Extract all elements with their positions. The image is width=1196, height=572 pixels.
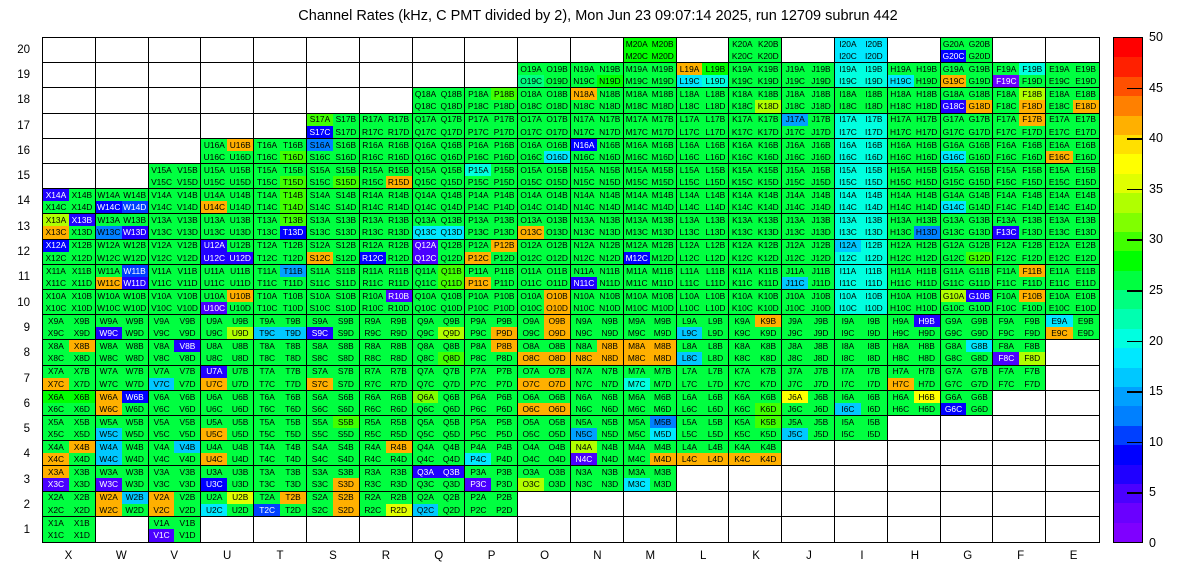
channel-P7C[interactable]: P7C [465, 378, 491, 390]
heatmap-cell-W14[interactable]: W14AW14BW14CW14D [96, 189, 149, 214]
channel-G15D[interactable]: G15D [966, 176, 992, 188]
channel-S12A[interactable]: S12A [307, 240, 333, 252]
heatmap-cell-M14[interactable]: M14AM14BM14CM14D [624, 189, 677, 214]
channel-R11D[interactable]: R11D [386, 277, 412, 289]
channel-I13B[interactable]: I13B [861, 214, 887, 226]
channel-S15A[interactable]: S15A [307, 164, 333, 176]
heatmap-cell-W7[interactable]: W7AW7BW7CW7D [96, 366, 149, 391]
channel-I11D[interactable]: I11D [861, 277, 887, 289]
channel-T7A[interactable]: T7A [254, 366, 280, 378]
channel-I19C[interactable]: I19C [835, 75, 861, 87]
heatmap-cell-G4[interactable] [941, 441, 994, 466]
channel-F14B[interactable]: F14B [1019, 189, 1045, 201]
channel-G15C[interactable]: G15C [941, 176, 967, 188]
heatmap-cell-R17[interactable]: R17AR17BR17CR17D [360, 114, 413, 139]
heatmap-cell-R1[interactable] [360, 517, 413, 542]
channel-J15D[interactable]: J15D [808, 176, 834, 188]
channel-W9B[interactable]: W9B [122, 315, 148, 327]
heatmap-cell-J14[interactable]: J14AJ14BJ14CJ14D [782, 189, 835, 214]
channel-K15B[interactable]: K15B [755, 164, 781, 176]
heatmap-cell-H15[interactable]: H15AH15BH15CH15D [888, 164, 941, 189]
channel-H7D[interactable]: H7D [914, 378, 940, 390]
channel-T11C[interactable]: T11C [254, 277, 280, 289]
heatmap-cell-F11[interactable]: F11AF11BF11CF11D [993, 265, 1046, 290]
heatmap-cell-P14[interactable]: P14AP14BP14CP14D [465, 189, 518, 214]
channel-E14A[interactable]: E14A [1046, 189, 1072, 201]
heatmap-cell-K12[interactable]: K12AK12BK12CK12D [729, 240, 782, 265]
channel-O17C[interactable]: O17C [518, 126, 544, 138]
heatmap-cell-H17[interactable]: H17AH17BH17CH17D [888, 114, 941, 139]
heatmap-cell-M10[interactable]: M10AM10BM10CM10D [624, 290, 677, 315]
channel-H14C[interactable]: H14C [888, 201, 914, 213]
channel-F11A[interactable]: F11A [993, 265, 1019, 277]
channel-O5B[interactable]: O5B [544, 416, 570, 428]
channel-W13B[interactable]: W13B [122, 214, 148, 226]
channel-N6D[interactable]: N6D [597, 403, 623, 415]
channel-K15D[interactable]: K15D [755, 176, 781, 188]
heatmap-cell-E19[interactable]: E19AE19BE19CE19D [1046, 63, 1099, 88]
channel-S17D[interactable]: S17D [333, 126, 359, 138]
channel-P6A[interactable]: P6A [465, 391, 491, 403]
channel-Q14A[interactable]: Q14A [413, 189, 439, 201]
channel-I10A[interactable]: I10A [835, 290, 861, 302]
channel-M19D[interactable]: M19D [650, 75, 676, 87]
heatmap-cell-P18[interactable]: P18AP18BP18CP18D [465, 88, 518, 113]
channel-Q16C[interactable]: Q16C [413, 151, 439, 163]
heatmap-cell-K6[interactable]: K6AK6BK6CK6D [729, 391, 782, 416]
channel-M9D[interactable]: M9D [650, 327, 676, 339]
heatmap-cell-Q19[interactable] [413, 63, 466, 88]
channel-X7A[interactable]: X7A [43, 366, 69, 378]
channel-Q13A[interactable]: Q13A [413, 214, 439, 226]
channel-O7B[interactable]: O7B [544, 366, 570, 378]
heatmap-cell-R6[interactable]: R6AR6BR6CR6D [360, 391, 413, 416]
channel-Q12B[interactable]: Q12B [438, 240, 464, 252]
channel-X14C[interactable]: X14C [43, 201, 69, 213]
heatmap-cell-K14[interactable]: K14AK14BK14CK14D [729, 189, 782, 214]
channel-V14A[interactable]: V14A [149, 189, 175, 201]
channel-U8C[interactable]: U8C [201, 352, 227, 364]
channel-O8C[interactable]: O8C [518, 352, 544, 364]
heatmap-cell-L2[interactable] [677, 492, 730, 517]
channel-E16D[interactable]: E16D [1073, 151, 1099, 163]
channel-W2C[interactable]: W2C [96, 504, 122, 516]
heatmap-cell-T14[interactable]: T14AT14BT14CT14D [254, 189, 307, 214]
channel-U15A[interactable]: U15A [201, 164, 227, 176]
channel-F18D[interactable]: F18D [1019, 100, 1045, 112]
channel-P7D[interactable]: P7D [491, 378, 517, 390]
heatmap-cell-E2[interactable] [1046, 492, 1099, 517]
channel-J18C[interactable]: J18C [782, 100, 808, 112]
channel-M18C[interactable]: M18C [624, 100, 650, 112]
channel-W4A[interactable]: W4A [96, 441, 122, 453]
channel-I14A[interactable]: I14A [835, 189, 861, 201]
channel-M15A[interactable]: M15A [624, 164, 650, 176]
channel-M13B[interactable]: M13B [650, 214, 676, 226]
heatmap-cell-M7[interactable]: M7AM7BM7CM7D [624, 366, 677, 391]
channel-N13A[interactable]: N13A [571, 214, 597, 226]
channel-Q7A[interactable]: Q7A [413, 366, 439, 378]
channel-H14A[interactable]: H14A [888, 189, 914, 201]
channel-M19B[interactable]: M19B [650, 63, 676, 75]
channel-R17B[interactable]: R17B [386, 114, 412, 126]
heatmap-cell-L16[interactable]: L16AL16BL16CL16D [677, 139, 730, 164]
channel-Q16B[interactable]: Q16B [438, 139, 464, 151]
channel-N13B[interactable]: N13B [597, 214, 623, 226]
heatmap-cell-U11[interactable]: U11AU11BU11CU11D [201, 265, 254, 290]
channel-K11B[interactable]: K11B [755, 265, 781, 277]
heatmap-cell-E17[interactable]: E17AE17BE17CE17D [1046, 114, 1099, 139]
heatmap-cell-T12[interactable]: T12AT12BT12CT12D [254, 240, 307, 265]
channel-W5B[interactable]: W5B [122, 416, 148, 428]
channel-H7A[interactable]: H7A [888, 366, 914, 378]
channel-O12C[interactable]: O12C [518, 252, 544, 264]
heatmap-cell-G12[interactable]: G12AG12BG12CG12D [941, 240, 994, 265]
heatmap-cell-G19[interactable]: G19AG19BG19CG19D [941, 63, 994, 88]
channel-P13B[interactable]: P13B [491, 214, 517, 226]
channel-U5B[interactable]: U5B [227, 416, 253, 428]
channel-R12A[interactable]: R12A [360, 240, 386, 252]
heatmap-cell-J11[interactable]: J11AJ11BJ11CJ11D [782, 265, 835, 290]
heatmap-cell-S11[interactable]: S11AS11BS11CS11D [307, 265, 360, 290]
channel-O8D[interactable]: O8D [544, 352, 570, 364]
channel-O9D[interactable]: O9D [544, 327, 570, 339]
channel-J11B[interactable]: J11B [808, 265, 834, 277]
channel-U16D[interactable]: U16D [227, 151, 253, 163]
channel-N13C[interactable]: N13C [571, 226, 597, 238]
channel-H6B[interactable]: H6B [914, 391, 940, 403]
heatmap-cell-F14[interactable]: F14AF14BF14CF14D [993, 189, 1046, 214]
heatmap-cell-J1[interactable] [782, 517, 835, 542]
channel-T5D[interactable]: T5D [280, 428, 306, 440]
heatmap-cell-U2[interactable]: U2AU2BU2CU2D [201, 492, 254, 517]
channel-O18C[interactable]: O18C [518, 100, 544, 112]
channel-H11C[interactable]: H11C [888, 277, 914, 289]
channel-T6D[interactable]: T6D [280, 403, 306, 415]
heatmap-cell-G17[interactable]: G17AG17BG17CG17D [941, 114, 994, 139]
heatmap-cell-I4[interactable] [835, 441, 888, 466]
channel-Q10D[interactable]: Q10D [438, 302, 464, 314]
channel-N5A[interactable]: N5A [571, 416, 597, 428]
heatmap-cell-H14[interactable]: H14AH14BH14CH14D [888, 189, 941, 214]
channel-V4A[interactable]: V4A [149, 441, 175, 453]
channel-T6C[interactable]: T6C [254, 403, 280, 415]
channel-V1D[interactable]: V1D [174, 529, 200, 542]
heatmap-cell-K16[interactable]: K16AK16BK16CK16D [729, 139, 782, 164]
channel-R8D[interactable]: R8D [386, 352, 412, 364]
heatmap-cell-E1[interactable] [1046, 517, 1099, 542]
channel-G9D[interactable]: G9D [966, 327, 992, 339]
channel-K19C[interactable]: K19C [729, 75, 755, 87]
channel-Q2D[interactable]: Q2D [438, 504, 464, 516]
channel-M14B[interactable]: M14B [650, 189, 676, 201]
heatmap-cell-F12[interactable]: F12AF12BF12CF12D [993, 240, 1046, 265]
channel-N5B[interactable]: N5B [597, 416, 623, 428]
channel-M3B[interactable]: M3B [650, 466, 676, 478]
channel-R3C[interactable]: R3C [360, 478, 386, 490]
channel-E14C[interactable]: E14C [1046, 201, 1072, 213]
channel-X13C[interactable]: X13C [43, 226, 69, 238]
channel-G17C[interactable]: G17C [941, 126, 967, 138]
channel-O6D[interactable]: O6D [544, 403, 570, 415]
channel-W12A[interactable]: W12A [96, 240, 122, 252]
heatmap-cell-G16[interactable]: G16AG16BG16CG16D [941, 139, 994, 164]
heatmap-cell-V15[interactable]: V15AV15BV15CV15D [149, 164, 202, 189]
channel-S16C[interactable]: S16C [307, 151, 333, 163]
channel-N17A[interactable]: N17A [571, 114, 597, 126]
channel-K7D[interactable]: K7D [755, 378, 781, 390]
heatmap-cell-S10[interactable]: S10AS10BS10CS10D [307, 290, 360, 315]
channel-L15B[interactable]: L15B [702, 164, 728, 176]
channel-K8A[interactable]: K8A [729, 340, 755, 352]
channel-K4A[interactable]: K4A [729, 441, 755, 453]
channel-O16C[interactable]: O16C [518, 151, 544, 163]
heatmap-cell-I7[interactable]: I7AI7BI7CI7D [835, 366, 888, 391]
channel-P11D[interactable]: P11D [491, 277, 517, 289]
channel-M17D[interactable]: M17D [650, 126, 676, 138]
channel-W14B[interactable]: W14B [122, 189, 148, 201]
heatmap-cell-F16[interactable]: F16AF16BF16CF16D [993, 139, 1046, 164]
channel-O5D[interactable]: O5D [544, 428, 570, 440]
channel-J8B[interactable]: J8B [808, 340, 834, 352]
channel-J12C[interactable]: J12C [782, 252, 808, 264]
heatmap-cell-W11[interactable]: W11AW11BW11CW11D [96, 265, 149, 290]
heatmap-cell-P15[interactable]: P15AP15BP15CP15D [465, 164, 518, 189]
channel-V1A[interactable]: V1A [149, 517, 175, 530]
channel-J12A[interactable]: J12A [782, 240, 808, 252]
channel-Q7B[interactable]: Q7B [438, 366, 464, 378]
channel-U16B[interactable]: U16B [227, 139, 253, 151]
heatmap-cell-N18[interactable]: N18AN18BN18CN18D [571, 88, 624, 113]
channel-M12A[interactable]: M12A [624, 240, 650, 252]
channel-I18B[interactable]: I18B [861, 88, 887, 100]
channel-M15C[interactable]: M15C [624, 176, 650, 188]
channel-G8A[interactable]: G8A [941, 340, 967, 352]
channel-N15B[interactable]: N15B [597, 164, 623, 176]
channel-O14D[interactable]: O14D [544, 201, 570, 213]
channel-U15D[interactable]: U15D [227, 176, 253, 188]
heatmap-cell-Q2[interactable]: Q2AQ2BQ2CQ2D [413, 492, 466, 517]
channel-I10B[interactable]: I10B [861, 290, 887, 302]
channel-G13D[interactable]: G13D [966, 226, 992, 238]
channel-L10D[interactable]: L10D [702, 302, 728, 314]
channel-L8D[interactable]: L8D [702, 352, 728, 364]
heatmap-cell-N7[interactable]: N7AN7BN7CN7D [571, 366, 624, 391]
heatmap-cell-S17[interactable]: S17AS17BS17CS17D [307, 114, 360, 139]
channel-M19C[interactable]: M19C [624, 75, 650, 87]
channel-K6D[interactable]: K6D [755, 403, 781, 415]
channel-X11D[interactable]: X11D [69, 277, 95, 289]
channel-K16C[interactable]: K16C [729, 151, 755, 163]
heatmap-cell-V2[interactable]: V2AV2BV2CV2D [149, 492, 202, 517]
channel-P16A[interactable]: P16A [465, 139, 491, 151]
heatmap-cell-O15[interactable]: O15AO15BO15CO15D [518, 164, 571, 189]
channel-R11B[interactable]: R11B [386, 265, 412, 277]
heatmap-cell-P2[interactable]: P2AP2BP2CP2D [465, 492, 518, 517]
channel-E18D[interactable]: E18D [1073, 100, 1099, 112]
channel-T2C[interactable]: T2C [254, 504, 280, 516]
channel-O10C[interactable]: O10C [518, 302, 544, 314]
channel-U8D[interactable]: U8D [227, 352, 253, 364]
channel-N8B[interactable]: N8B [597, 340, 623, 352]
heatmap-cell-E7[interactable] [1046, 366, 1099, 391]
channel-O3D[interactable]: O3D [544, 478, 570, 490]
heatmap-cell-S2[interactable]: S2AS2BS2CS2D [307, 492, 360, 517]
channel-F7D[interactable]: F7D [1019, 378, 1045, 390]
heatmap-cell-H18[interactable]: H18AH18BH18CH18D [888, 88, 941, 113]
channel-J8D[interactable]: J8D [808, 352, 834, 364]
heatmap-cell-T2[interactable]: T2AT2BT2CT2D [254, 492, 307, 517]
heatmap-cell-P13[interactable]: P13AP13BP13CP13D [465, 214, 518, 239]
channel-T14C[interactable]: T14C [254, 201, 280, 213]
heatmap-cell-H9[interactable]: H9AH9BH9CH9D [888, 315, 941, 340]
heatmap-cell-W2[interactable]: W2AW2BW2CW2D [96, 492, 149, 517]
channel-Q8C[interactable]: Q8C [413, 352, 439, 364]
channel-K11A[interactable]: K11A [729, 265, 755, 277]
channel-R5C[interactable]: R5C [360, 428, 386, 440]
channel-O9C[interactable]: O9C [518, 327, 544, 339]
channel-M10B[interactable]: M10B [650, 290, 676, 302]
heatmap-cell-W20[interactable] [96, 38, 149, 63]
channel-V9B[interactable]: V9B [174, 315, 200, 327]
channel-L4D[interactable]: L4D [702, 453, 728, 465]
heatmap-cell-N9[interactable]: N9AN9BN9CN9D [571, 315, 624, 340]
heatmap-cell-S19[interactable] [307, 63, 360, 88]
channel-E19B[interactable]: E19B [1073, 63, 1099, 75]
channel-G7A[interactable]: G7A [941, 366, 967, 378]
heatmap-cell-X11[interactable]: X11AX11BX11CX11D [43, 265, 96, 290]
channel-W11A[interactable]: W11A [96, 265, 122, 277]
channel-O18D[interactable]: O18D [544, 100, 570, 112]
channel-K9B[interactable]: K9B [755, 315, 781, 327]
channel-Q10B[interactable]: Q10B [438, 290, 464, 302]
channel-F17C[interactable]: F17C [993, 126, 1019, 138]
channel-J5C[interactable]: J5C [782, 428, 808, 440]
heatmap-cell-N15[interactable]: N15AN15BN15CN15D [571, 164, 624, 189]
channel-X7B[interactable]: X7B [69, 366, 95, 378]
channel-N11C[interactable]: N11C [571, 277, 597, 289]
heatmap-cell-T13[interactable]: T13AT13BT13CT13D [254, 214, 307, 239]
heatmap-cell-X1[interactable]: X1AX1BX1CX1D [43, 517, 96, 542]
channel-I19D[interactable]: I19D [861, 75, 887, 87]
channel-P8C[interactable]: P8C [465, 352, 491, 364]
heatmap-cell-N20[interactable] [571, 38, 624, 63]
channel-V11D[interactable]: V11D [174, 277, 200, 289]
channel-T15C[interactable]: T15C [254, 176, 280, 188]
channel-G10B[interactable]: G10B [966, 290, 992, 302]
channel-J10C[interactable]: J10C [782, 302, 808, 314]
heatmap-cell-E3[interactable] [1046, 466, 1099, 491]
channel-N11A[interactable]: N11A [571, 265, 597, 277]
heatmap-cell-Q5[interactable]: Q5AQ5BQ5CQ5D [413, 416, 466, 441]
channel-Q2B[interactable]: Q2B [438, 492, 464, 504]
channel-O16B[interactable]: O16B [544, 139, 570, 151]
channel-V7A[interactable]: V7A [149, 366, 175, 378]
channel-P8B[interactable]: P8B [491, 340, 517, 352]
heatmap-cell-M15[interactable]: M15AM15BM15CM15D [624, 164, 677, 189]
heatmap-cell-F2[interactable] [993, 492, 1046, 517]
channel-Q6B[interactable]: Q6B [438, 391, 464, 403]
channel-Q8D[interactable]: Q8D [438, 352, 464, 364]
channel-I14D[interactable]: I14D [861, 201, 887, 213]
channel-G11C[interactable]: G11C [941, 277, 967, 289]
heatmap-cell-X17[interactable] [43, 114, 96, 139]
channel-M20D[interactable]: M20D [650, 50, 676, 62]
channel-Q9A[interactable]: Q9A [413, 315, 439, 327]
channel-R14C[interactable]: R14C [360, 201, 386, 213]
channel-I6D[interactable]: I6D [861, 403, 887, 415]
channel-H8B[interactable]: H8B [914, 340, 940, 352]
channel-J16B[interactable]: J16B [808, 139, 834, 151]
channel-I6C[interactable]: I6C [835, 403, 861, 415]
channel-Q15D[interactable]: Q15D [438, 176, 464, 188]
heatmap-cell-R19[interactable] [360, 63, 413, 88]
channel-T2D[interactable]: T2D [280, 504, 306, 516]
channel-H9D[interactable]: H9D [914, 327, 940, 339]
channel-U10D[interactable]: U10D [227, 302, 253, 314]
channel-Q13C[interactable]: Q13C [413, 226, 439, 238]
heatmap-cell-V17[interactable] [149, 114, 202, 139]
channel-L18B[interactable]: L18B [702, 88, 728, 100]
heatmap-cell-L5[interactable]: L5AL5BL5CL5D [677, 416, 730, 441]
channel-M20A[interactable]: M20A [624, 38, 650, 50]
channel-I9A[interactable]: I9A [835, 315, 861, 327]
channel-W5A[interactable]: W5A [96, 416, 122, 428]
channel-G10C[interactable]: G10C [941, 302, 967, 314]
channel-P17C[interactable]: P17C [465, 126, 491, 138]
channel-S6B[interactable]: S6B [333, 391, 359, 403]
channel-L13B[interactable]: L13B [702, 214, 728, 226]
heatmap-cell-S13[interactable]: S13AS13BS13CS13D [307, 214, 360, 239]
heatmap-cell-E5[interactable] [1046, 416, 1099, 441]
channel-H10C[interactable]: H10C [888, 302, 914, 314]
channel-K8B[interactable]: K8B [755, 340, 781, 352]
channel-F13D[interactable]: F13D [1019, 226, 1045, 238]
channel-E13D[interactable]: E13D [1073, 226, 1099, 238]
heatmap-cell-H5[interactable] [888, 416, 941, 441]
channel-X2B[interactable]: X2B [69, 492, 95, 504]
channel-J14A[interactable]: J14A [782, 189, 808, 201]
channel-H15B[interactable]: H15B [914, 164, 940, 176]
channel-S17A[interactable]: S17A [307, 114, 333, 126]
channel-N15A[interactable]: N15A [571, 164, 597, 176]
channel-E10D[interactable]: E10D [1073, 302, 1099, 314]
channel-G19C[interactable]: G19C [941, 75, 967, 87]
channel-P10C[interactable]: P10C [465, 302, 491, 314]
channel-Q6D[interactable]: Q6D [438, 403, 464, 415]
channel-F19B[interactable]: F19B [1019, 63, 1045, 75]
heatmap-cell-R8[interactable]: R8AR8BR8CR8D [360, 340, 413, 365]
channel-R11A[interactable]: R11A [360, 265, 386, 277]
channel-R12D[interactable]: R12D [386, 252, 412, 264]
heatmap-cell-I10[interactable]: I10AI10BI10CI10D [835, 290, 888, 315]
channel-S8D[interactable]: S8D [333, 352, 359, 364]
channel-T3B[interactable]: T3B [280, 466, 306, 478]
channel-S7A[interactable]: S7A [307, 366, 333, 378]
heatmap-cell-T6[interactable]: T6AT6BT6CT6D [254, 391, 307, 416]
heatmap-cell-F20[interactable] [993, 38, 1046, 63]
channel-R8B[interactable]: R8B [386, 340, 412, 352]
heatmap-cell-J20[interactable] [782, 38, 835, 63]
channel-F8D[interactable]: F8D [1019, 352, 1045, 364]
channel-X4A[interactable]: X4A [43, 441, 69, 453]
channel-U5D[interactable]: U5D [227, 428, 253, 440]
channel-U11A[interactable]: U11A [201, 265, 227, 277]
channel-W7A[interactable]: W7A [96, 366, 122, 378]
channel-L14D[interactable]: L14D [702, 201, 728, 213]
channel-U6D[interactable]: U6D [227, 403, 253, 415]
channel-T8A[interactable]: T8A [254, 340, 280, 352]
